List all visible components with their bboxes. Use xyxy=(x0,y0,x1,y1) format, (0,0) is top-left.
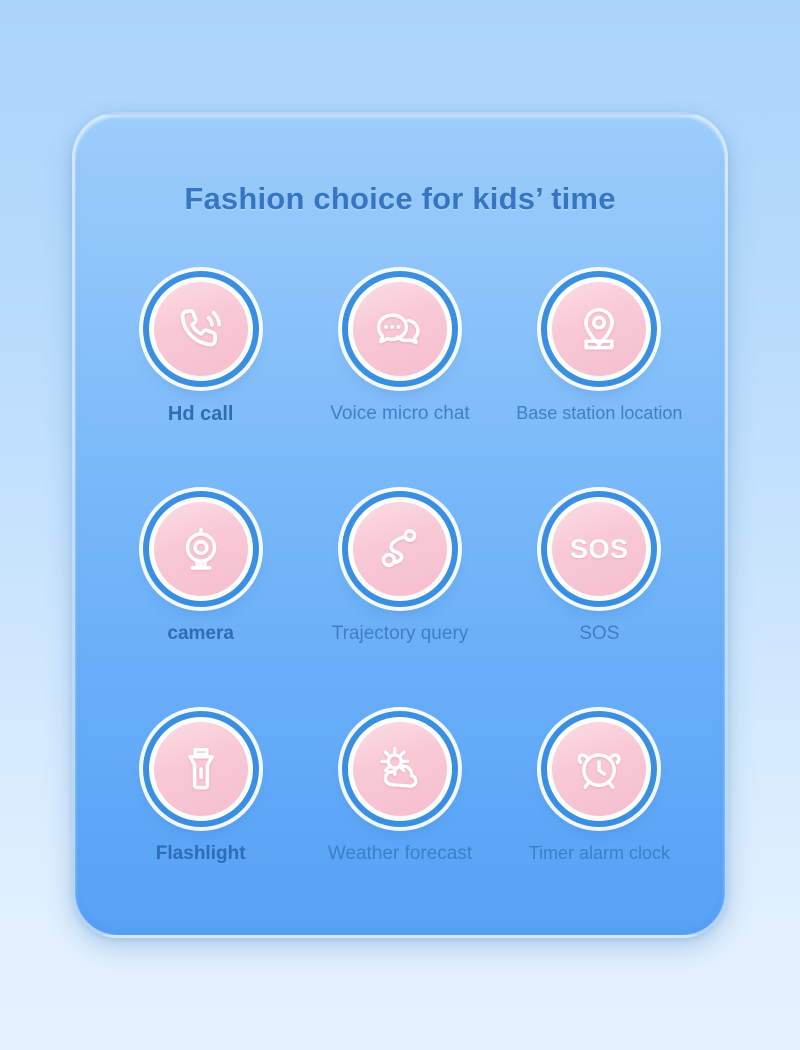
feature-label: SOS xyxy=(579,623,619,645)
feature-item-flashlight[interactable]: Flashlight xyxy=(101,717,300,937)
feature-label: Flashlight xyxy=(156,843,246,865)
sos-icon[interactable]: SOS xyxy=(547,497,651,601)
feature-item-base-station-location[interactable]: Base station location xyxy=(500,277,699,497)
feature-item-weather-forecast[interactable]: Weather forecast xyxy=(300,717,499,937)
chat-bubbles-icon[interactable] xyxy=(348,277,452,381)
page-background: Fashion choice for kids’ time Hd call xyxy=(0,0,800,1050)
feature-label: Weather forecast xyxy=(328,843,472,865)
feature-row: Flashlight Weather forecast xyxy=(101,717,699,937)
location-pin-icon[interactable] xyxy=(547,277,651,381)
route-trajectory-icon[interactable] xyxy=(348,497,452,601)
feature-label: Base station location xyxy=(516,403,682,424)
alarm-clock-icon[interactable] xyxy=(547,717,651,821)
feature-row: Hd call Voice micro chat xyxy=(101,277,699,497)
feature-card: Fashion choice for kids’ time Hd call xyxy=(72,112,728,938)
feature-item-camera[interactable]: camera xyxy=(101,497,300,717)
sun-cloud-icon[interactable] xyxy=(348,717,452,821)
feature-label: Hd call xyxy=(168,403,234,426)
sos-glyph-text: SOS xyxy=(570,534,629,565)
feature-label: camera xyxy=(167,623,234,645)
feature-label: Trajectory query xyxy=(332,623,469,645)
feature-item-voice-micro-chat[interactable]: Voice micro chat xyxy=(300,277,499,497)
webcam-icon[interactable] xyxy=(149,497,253,601)
phone-call-icon[interactable] xyxy=(149,277,253,381)
feature-row: camera Trajectory query SOS xyxy=(101,497,699,717)
feature-label: Timer alarm clock xyxy=(529,843,670,864)
flashlight-icon[interactable] xyxy=(149,717,253,821)
feature-label: Voice micro chat xyxy=(330,403,469,425)
feature-item-sos[interactable]: SOS SOS xyxy=(500,497,699,717)
feature-grid: Hd call Voice micro chat xyxy=(101,277,699,937)
feature-item-hd-call[interactable]: Hd call xyxy=(101,277,300,497)
feature-item-timer-alarm-clock[interactable]: Timer alarm clock xyxy=(500,717,699,937)
page-title: Fashion choice for kids’ time xyxy=(75,181,725,217)
feature-item-trajectory-query[interactable]: Trajectory query xyxy=(300,497,499,717)
